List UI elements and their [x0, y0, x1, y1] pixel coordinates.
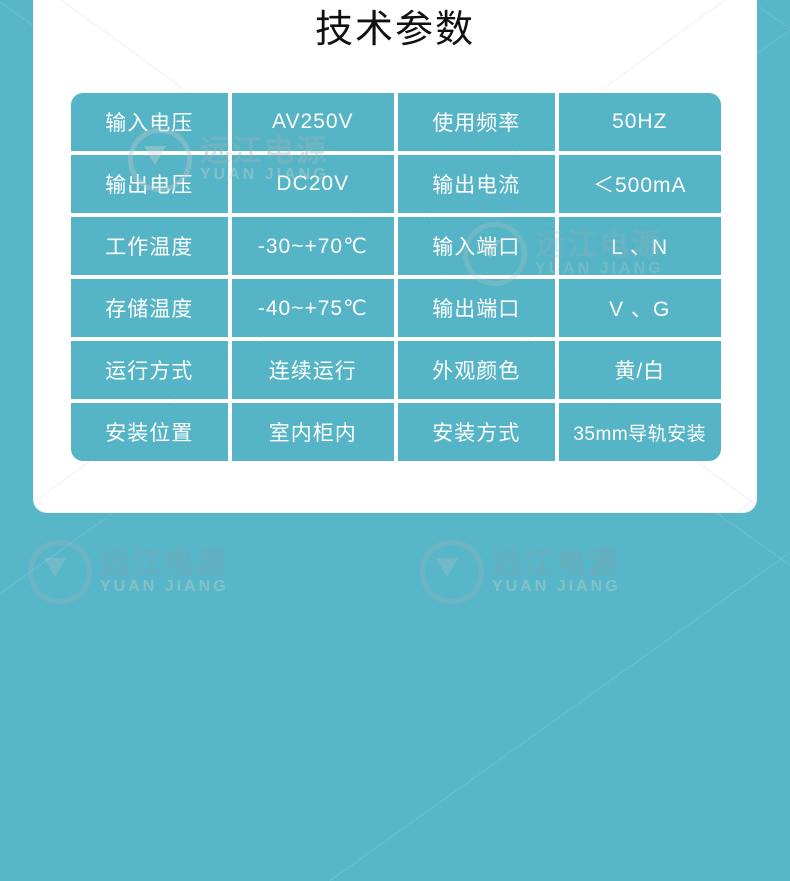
spec-label: 运行方式 — [71, 341, 228, 399]
page-background: 技术参数 输入电压 AV250V 使用频率 50HZ 输出电压 DC20V 输出… — [0, 0, 790, 584]
content-panel: 技术参数 输入电压 AV250V 使用频率 50HZ 输出电压 DC20V 输出… — [33, 0, 757, 513]
spec-value: 室内柜内 — [232, 403, 394, 461]
table-row: 工作温度 -30~+70℃ 输入端口 L 、N — [71, 217, 721, 275]
spec-label: 输出电压 — [71, 155, 228, 213]
spec-label: 外观颜色 — [398, 341, 555, 399]
spec-label: 安装方式 — [398, 403, 555, 461]
spec-value: 黄/白 — [559, 341, 721, 399]
spec-label: 工作温度 — [71, 217, 228, 275]
watermark-logo-icon — [28, 540, 92, 604]
spec-label: 输出电流 — [398, 155, 555, 213]
spec-label: 输出端口 — [398, 279, 555, 337]
spec-table: 输入电压 AV250V 使用频率 50HZ 输出电压 DC20V 输出电流 ＜5… — [71, 93, 721, 461]
watermark-logo-icon — [420, 540, 484, 604]
table-row: 存储温度 -40~+75℃ 输出端口 V 、G — [71, 279, 721, 337]
table-row: 运行方式 连续运行 外观颜色 黄/白 — [71, 341, 721, 399]
spec-label: 安装位置 — [71, 403, 228, 461]
spec-value: -30~+70℃ — [232, 217, 394, 275]
page-title: 技术参数 — [33, 8, 757, 52]
watermark-text: 远江电源 YUAN JIANG — [492, 548, 621, 596]
spec-value: 35mm导轨安装 — [559, 403, 721, 461]
table-row: 安装位置 室内柜内 安装方式 35mm导轨安装 — [71, 403, 721, 461]
table-row: 输出电压 DC20V 输出电流 ＜500mA — [71, 155, 721, 213]
watermark-text: 远江电源 YUAN JIANG — [100, 548, 229, 596]
spec-value: -40~+75℃ — [232, 279, 394, 337]
spec-value: ＜500mA — [559, 155, 721, 213]
spec-value: L 、N — [559, 217, 721, 275]
watermark-english: YUAN JIANG — [492, 579, 621, 596]
watermark: 远江电源 YUAN JIANG — [28, 540, 229, 604]
watermark-chinese: 远江电源 — [492, 548, 621, 580]
spec-value: V 、G — [559, 279, 721, 337]
spec-value: 连续运行 — [232, 341, 394, 399]
watermark-english: YUAN JIANG — [100, 579, 229, 596]
spec-label: 存储温度 — [71, 279, 228, 337]
spec-value: DC20V — [232, 155, 394, 213]
watermark: 远江电源 YUAN JIANG — [420, 540, 621, 604]
spec-value: 50HZ — [559, 93, 721, 151]
watermark-chinese: 远江电源 — [100, 548, 229, 580]
spec-label: 使用频率 — [398, 93, 555, 151]
table-row: 输入电压 AV250V 使用频率 50HZ — [71, 93, 721, 151]
spec-value: AV250V — [232, 93, 394, 151]
spec-label: 输入电压 — [71, 93, 228, 151]
spec-label: 输入端口 — [398, 217, 555, 275]
